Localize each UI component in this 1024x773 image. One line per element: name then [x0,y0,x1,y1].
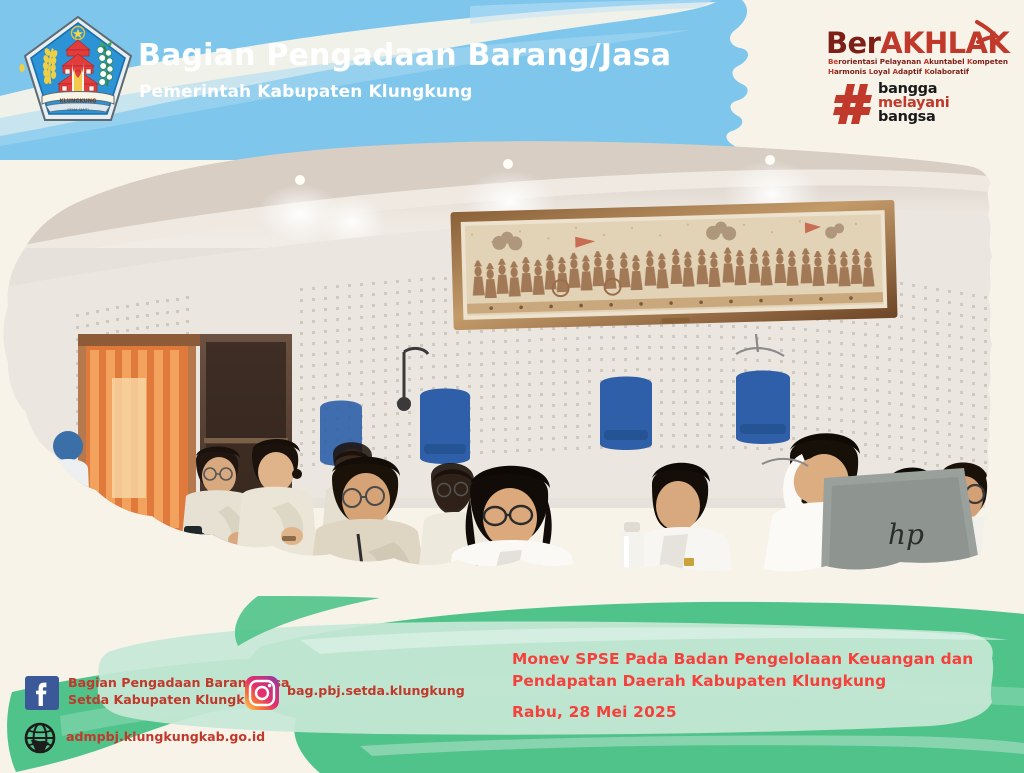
caption-line-2: Pendapatan Daerah Kabupaten Klungkung [512,670,982,692]
tag-b: Be [828,57,838,66]
tag-oyal: oyal [873,67,892,76]
poster-canvas: KLUNGKUNG GEMA SANTI Bagian Pengadaan Ba… [0,0,1024,773]
instagram-icon[interactable] [245,676,279,710]
berakhlak-tagline-line1: Berorientasi Pelayanan Akuntabel Kompete… [828,57,1008,66]
footer-contacts: Bagian Pengadaan Barang/Jasa Setda Kabup… [0,660,520,773]
facebook-icon[interactable] [25,676,59,710]
berakhlak-swoosh-icon [974,20,1000,46]
event-caption: Monev SPSE Pada Badan Pengelolaan Keuang… [512,648,982,721]
berakhlak-word-part1: Ber [826,26,880,60]
bangga-melayani-bangsa-logo: bangga melayani bangsa [834,82,994,130]
svg-text:hp: hp [888,518,924,551]
website-url[interactable]: admpbj.klungkungkab.go.id [66,729,265,744]
klungkung-regency-emblem: KLUNGKUNG GEMA SANTI [22,14,134,130]
tag-olaboratif: olaboratif [930,67,969,76]
meeting-room-photograph: hp [0,138,1004,618]
tag-rorientasi: rorientasi Pelayanan [838,57,923,66]
tag-ompeten: ompeten [972,57,1008,66]
tag-kuntabel: kuntabel [929,57,967,66]
caption-line-1: Monev SPSE Pada Badan Pengelolaan Keuang… [512,648,982,670]
globe-icon[interactable] [24,722,56,754]
tag-daptif: daptif [898,67,924,76]
bangga-line3: bangsa [878,109,935,125]
svg-text:GEMA SANTI: GEMA SANTI [67,108,88,112]
berakhlak-logo: BerAKHLAK Berorientasi Pelayanan Akuntab… [826,26,1006,126]
page-subtitle: Pemerintah Kabupaten Klungkung [139,82,472,102]
caption-date: Rabu, 28 Mei 2025 [512,703,982,721]
hashtag-icon [834,82,874,126]
page-title: Bagian Pengadaan Barang/Jasa [138,38,671,73]
tag-armonis: armonis [834,67,869,76]
berakhlak-tagline-line2: Harmonis Loyal Adaptif Kolaboratif [828,67,969,76]
instagram-handle[interactable]: bag.pbj.setda.klungkung [287,683,465,698]
